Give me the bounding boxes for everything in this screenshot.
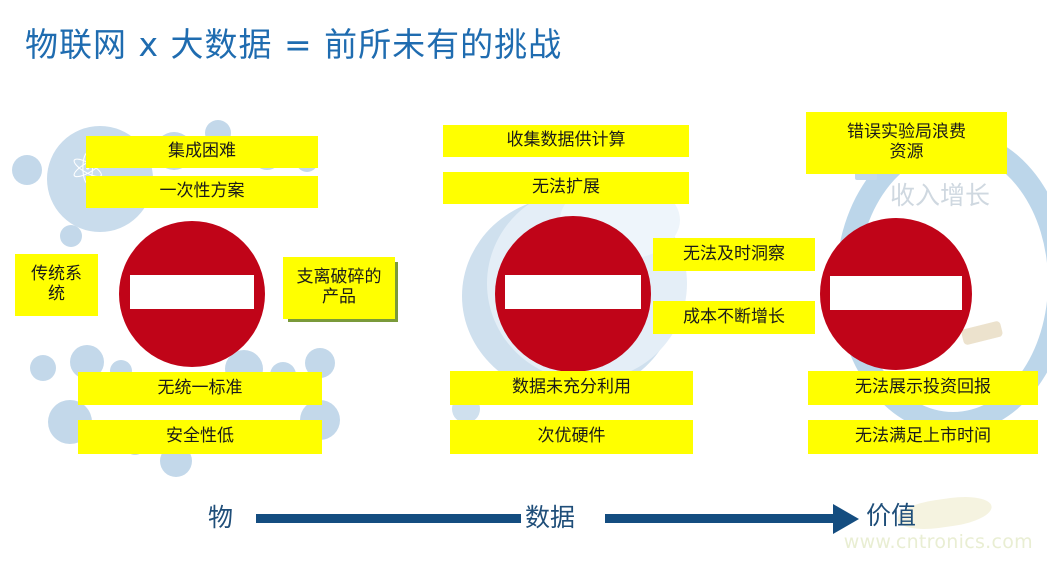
slide-canvas: ⚛ 收入增长 物联网 x 大数据 = 前所未有的挑战 集成困难 一次性方案 传统…	[0, 0, 1047, 565]
flow-line-things-to-data	[256, 514, 521, 523]
label-fragmented-products-text: 支离破碎的 产品	[297, 268, 382, 307]
stop-sign-bar-value	[830, 276, 962, 310]
label-collect-data-for-compute[interactable]: 收集数据供计算	[443, 125, 689, 157]
label-no-unified-standard[interactable]: 无统一标准	[78, 372, 322, 405]
label-legacy-systems-text: 传统系 统	[31, 265, 82, 304]
label-cannot-show-roi[interactable]: 无法展示投资回报	[808, 371, 1038, 405]
label-legacy-systems[interactable]: 传统系 统	[15, 254, 98, 316]
label-data-underutilized[interactable]: 数据未充分利用	[450, 371, 693, 405]
label-cannot-meet-time-to-market[interactable]: 无法满足上市时间	[808, 420, 1038, 454]
label-fragmented-products[interactable]: 支离破碎的 产品	[283, 257, 395, 319]
label-low-security[interactable]: 安全性低	[78, 420, 322, 454]
label-suboptimal-hardware[interactable]: 次优硬件	[450, 420, 693, 454]
label-no-timely-insight[interactable]: 无法及时洞察	[653, 238, 815, 271]
label-integration-difficult[interactable]: 集成困难	[86, 136, 318, 168]
decor-dot-6	[60, 225, 82, 247]
flow-line-data-to-value	[605, 514, 835, 523]
decor-dot-1	[12, 155, 42, 185]
label-one-off-solution[interactable]: 一次性方案	[86, 176, 318, 208]
ghost-text-revenue-growth: 收入增长	[890, 176, 990, 212]
stop-sign-bar-data	[505, 275, 641, 309]
label-rising-cost[interactable]: 成本不断增长	[653, 301, 815, 334]
flow-arrowhead-icon	[833, 504, 859, 534]
flow-label-things: 物	[208, 498, 233, 534]
watermark: www.cntronics.com	[844, 531, 1033, 553]
stop-sign-bar-things	[130, 275, 254, 309]
label-wrong-trials-waste-resources-text: 错误实验局浪费 资源	[847, 123, 966, 162]
flow-label-data: 数据	[525, 498, 575, 534]
decor-dot-7	[30, 355, 56, 381]
label-cannot-scale[interactable]: 无法扩展	[443, 172, 689, 204]
flow-label-value: 价值	[866, 496, 916, 532]
page-title: 物联网 x 大数据 = 前所未有的挑战	[25, 18, 562, 66]
label-wrong-trials-waste-resources[interactable]: 错误实验局浪费 资源	[806, 112, 1007, 174]
